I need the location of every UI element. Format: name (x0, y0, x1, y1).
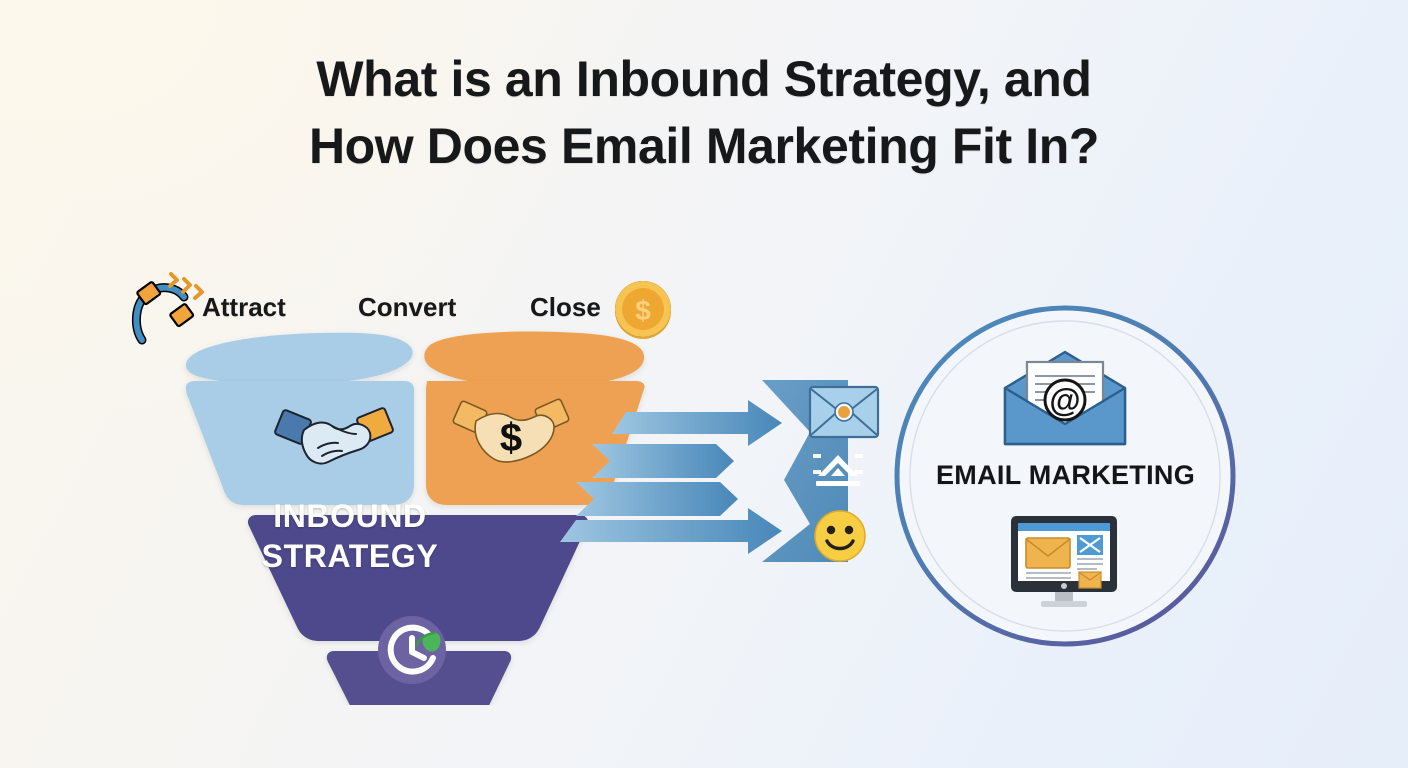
growth-clock-leaf-icon (370, 608, 454, 692)
flow-arrow-3 (576, 482, 738, 516)
title-line-2: How Does Email Marketing Fit In? (0, 113, 1408, 180)
funnel-attract-rim (186, 333, 413, 385)
title-line-1: What is an Inbound Strategy, and (0, 46, 1408, 113)
svg-text:$: $ (500, 416, 522, 460)
flow-arrow-1 (612, 400, 782, 446)
flow-arrow-2 (592, 444, 734, 478)
analytics-abstract-icon (812, 450, 864, 496)
svg-text:@: @ (1049, 382, 1080, 418)
desktop-email-icon (1003, 514, 1125, 610)
open-envelope-at-icon: @ (1001, 348, 1129, 448)
funnel-stage-label-convert: Convert (358, 292, 456, 323)
funnel-stage-label-close: Close (530, 292, 601, 323)
sealed-envelope-icon (808, 384, 880, 440)
smiley-face-icon (812, 508, 868, 564)
page-title: What is an Inbound Strategy, and How Doe… (0, 46, 1408, 180)
funnel-stage-label-attract: Attract (202, 292, 286, 323)
infographic-canvas: What is an Inbound Strategy, and How Doe… (0, 0, 1408, 768)
svg-text:$: $ (635, 295, 651, 326)
handshake-icon (274, 400, 394, 472)
email-marketing-circle: @ EMAIL MARKETING (893, 296, 1238, 656)
circle-label: EMAIL MARKETING (893, 460, 1238, 491)
